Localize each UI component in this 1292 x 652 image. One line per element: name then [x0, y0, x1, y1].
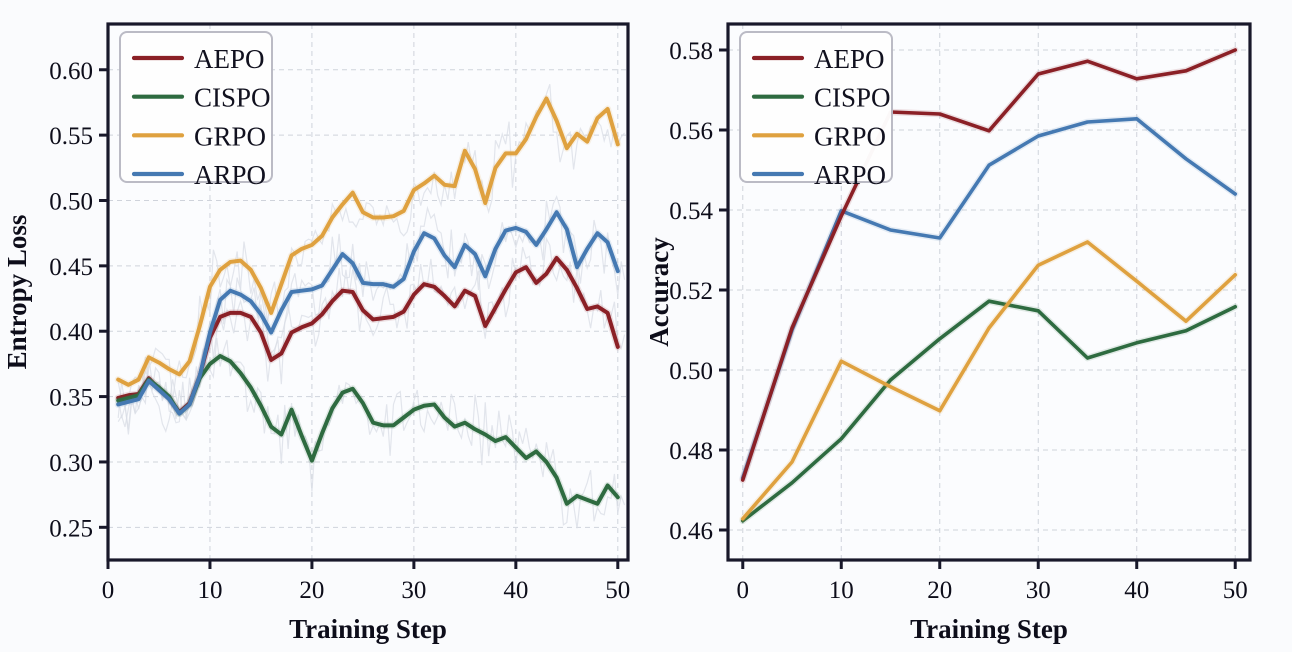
y-axis-title: Entropy Loss: [2, 215, 32, 370]
legend-label-aepo: AEPO: [814, 44, 885, 74]
x-tick-label: 20: [927, 577, 952, 604]
x-tick-label: 10: [197, 577, 222, 604]
y-tick-label: 0.30: [49, 450, 93, 477]
chart-panel-accuracy: 0.460.480.500.520.540.560.5801020304050T…: [646, 0, 1292, 652]
chart-svg-entropy-loss: 0.250.300.350.400.450.500.550.6001020304…: [0, 0, 646, 652]
x-tick-label: 0: [737, 577, 750, 604]
y-tick-label: 0.55: [49, 123, 93, 150]
legend-label-grpo: GRPO: [814, 121, 886, 151]
legend-label-arpo: ARPO: [194, 160, 266, 190]
legend-label-grpo: GRPO: [194, 121, 266, 151]
x-tick-label: 40: [1124, 577, 1149, 604]
legend-label-cispo: CISPO: [814, 83, 891, 113]
y-tick-label: 0.50: [49, 188, 93, 215]
legend-label-aepo: AEPO: [194, 44, 265, 74]
legend: AEPOCISPOGRPOARPO: [120, 32, 272, 190]
y-tick-label: 0.35: [49, 385, 93, 412]
x-tick-label: 30: [1026, 577, 1051, 604]
x-axis-title: Training Step: [910, 614, 1068, 644]
x-tick-label: 20: [299, 577, 324, 604]
legend: AEPOCISPOGRPOARPO: [740, 32, 892, 190]
y-tick-label: 0.25: [49, 515, 93, 542]
legend-label-arpo: ARPO: [814, 160, 886, 190]
chart-svg-accuracy: 0.460.480.500.520.540.560.5801020304050T…: [646, 0, 1292, 652]
y-tick-label: 0.60: [49, 58, 93, 85]
figure-root: 0.250.300.350.400.450.500.550.6001020304…: [0, 0, 1292, 652]
y-tick-label: 0.58: [669, 38, 713, 65]
x-tick-label: 50: [1223, 577, 1248, 604]
x-tick-label: 30: [401, 577, 426, 604]
y-tick-label: 0.48: [669, 438, 713, 465]
x-axis-title: Training Step: [289, 614, 447, 644]
x-tick-label: 0: [102, 577, 115, 604]
x-tick-label: 10: [829, 577, 854, 604]
chart-panel-entropy-loss: 0.250.300.350.400.450.500.550.6001020304…: [0, 0, 646, 652]
x-tick-label: 50: [605, 577, 630, 604]
y-axis-title: Accuracy: [646, 237, 674, 347]
x-tick-label: 40: [503, 577, 528, 604]
y-tick-label: 0.56: [669, 118, 713, 145]
y-tick-label: 0.52: [669, 278, 713, 305]
y-tick-label: 0.45: [49, 254, 93, 281]
y-tick-label: 0.40: [49, 319, 93, 346]
y-tick-label: 0.46: [669, 518, 713, 545]
legend-label-cispo: CISPO: [194, 83, 271, 113]
y-tick-label: 0.50: [669, 358, 713, 385]
y-tick-label: 0.54: [669, 198, 713, 225]
